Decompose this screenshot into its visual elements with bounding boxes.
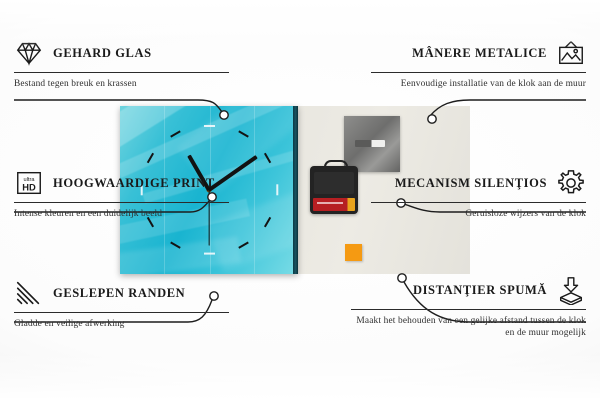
feature-title: GEHARD GLAS — [53, 46, 152, 61]
feature-description: Maakt het behouden van een gelijke afsta… — [351, 315, 586, 339]
underline — [371, 72, 586, 73]
feature-title: MECANISM SILENŢIOS — [395, 176, 547, 191]
feature-gehard-glas: GEHARD GLAS Bestand tegen breuk en krass… — [14, 38, 229, 90]
feature-description: Eenvoudige installatie van de klok aan d… — [371, 78, 586, 90]
ultra-hd-icon: ultra HD — [14, 168, 44, 198]
feature-description: Intense kleuren en een duidelijk beeld — [14, 208, 229, 220]
underline — [14, 202, 229, 203]
diamond-icon — [14, 38, 44, 68]
glass-edge — [293, 106, 298, 274]
feature-distantier-spuma: DISTANŢIER SPUMĂ Maakt het behouden van … — [351, 275, 586, 339]
underline — [14, 72, 229, 73]
clock-mechanism — [310, 166, 358, 214]
svg-text:HD: HD — [22, 183, 36, 193]
feature-title: GESLEPEN RANDEN — [53, 286, 185, 301]
feature-manere-metalice: MÂNERE METALICE Eenvoudige installatie v… — [371, 38, 586, 90]
feature-description: Gladde en veilige afwerking — [14, 318, 229, 330]
mechanism-loop — [324, 160, 348, 172]
hanger-slot — [355, 140, 385, 147]
clock-tick — [204, 125, 215, 127]
mechanism-body — [314, 172, 354, 194]
feature-hoogwaardige-print: ultra HD HOOGWAARDIGE PRINT Intense kleu… — [14, 168, 229, 220]
feature-geslepen-randen: GESLEPEN RANDEN Gladde en veilige afwerk… — [14, 278, 229, 330]
gear-icon — [556, 168, 586, 198]
wall-mount-icon — [556, 38, 586, 68]
spacer-layers-icon — [556, 275, 586, 305]
foam-spacer — [345, 244, 362, 261]
feature-description: Bestand tegen breuk en krassen — [14, 78, 229, 90]
underline — [351, 309, 586, 310]
feature-mecanism-silentios: MECANISM SILENŢIOS Geruisloze wijzers va… — [371, 168, 586, 220]
metal-hanger-plate — [344, 116, 400, 172]
feature-title: HOOGWAARDIGE PRINT — [53, 176, 215, 191]
clock-tick — [204, 253, 215, 255]
feature-description: Geruisloze wijzers van de klok — [371, 208, 586, 220]
clock-tick — [276, 184, 278, 195]
underline — [14, 312, 229, 313]
underline — [371, 202, 586, 203]
battery-label — [313, 198, 355, 211]
infographic-canvas: GEHARD GLAS Bestand tegen breuk en krass… — [0, 0, 600, 400]
feature-title: DISTANŢIER SPUMĂ — [413, 283, 547, 298]
beveled-edges-icon — [14, 278, 44, 308]
feature-title: MÂNERE METALICE — [412, 46, 547, 61]
